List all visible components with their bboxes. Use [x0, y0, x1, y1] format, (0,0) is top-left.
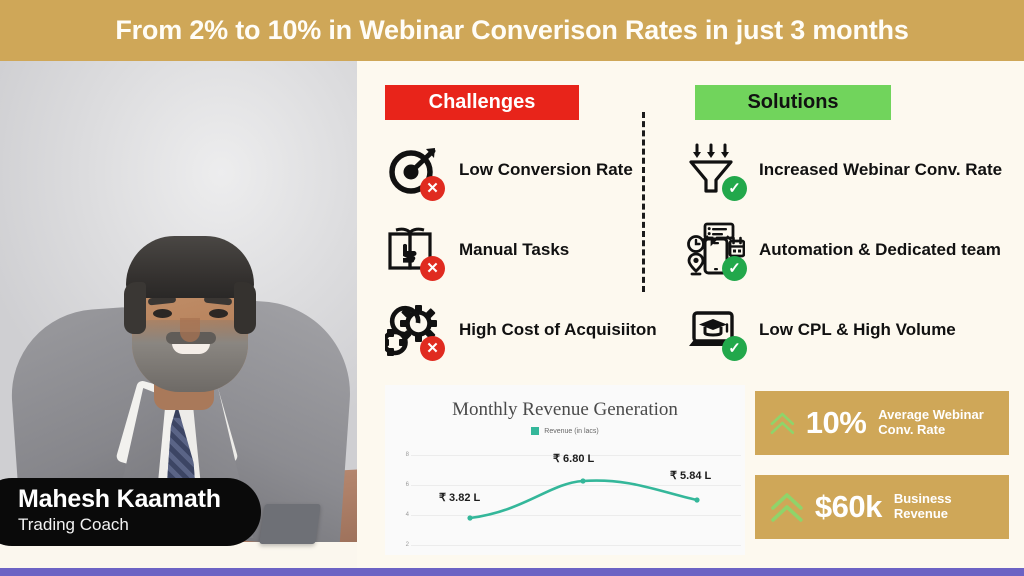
slide-root: From 2% to 10% in Webinar Converison Rat… — [0, 0, 1024, 576]
challenges-heading-chip: Challenges — [385, 85, 579, 120]
solutions-heading-chip: Solutions — [695, 85, 891, 120]
legend-label-revenue: Revenue (in lacs) — [544, 428, 598, 435]
content-panel: Challenges Solutions ✕ Low Conversion Ra… — [357, 61, 1024, 568]
bottom-accent-strip — [0, 568, 1024, 576]
challenge-label: Manual Tasks — [459, 240, 569, 260]
solution-item-low-cpl: ✓ Low CPL & High Volume — [687, 301, 956, 359]
chart-plot-area: 8 6 4 2 ₹ 3.82 L ₹ 6.80 L ₹ 5.84 L — [385, 441, 745, 551]
challenge-label: Low Conversion Rate — [459, 160, 633, 180]
solutions-heading-label: Solutions — [747, 91, 838, 114]
stat-description: Average Webinar Conv. Rate — [878, 408, 1009, 437]
stat-value: $60k — [815, 489, 882, 525]
challenge-badge-x: ✕ — [420, 176, 445, 201]
challenge-label: High Cost of Acquisiiton — [459, 320, 657, 340]
challenge-badge-x: ✕ — [420, 256, 445, 281]
challenges-heading-label: Challenges — [429, 91, 536, 114]
target-icon: ✕ — [385, 141, 443, 199]
challenge-item-high-cost-of-acquisition: ✕ High Cost of Acquisiiton — [385, 301, 657, 359]
challenge-badge-x: ✕ — [420, 336, 445, 361]
double-chevron-up-icon — [769, 404, 796, 442]
legend-swatch-revenue — [531, 427, 539, 435]
column-divider — [642, 112, 645, 292]
solution-badge-check: ✓ — [722, 176, 747, 201]
eye-right — [209, 309, 228, 318]
double-chevron-up-icon — [769, 488, 805, 526]
solution-item-automation: ✓ Automation & Dedicated team — [687, 221, 1001, 279]
hair-side-left — [124, 282, 146, 334]
revenue-chart-card: Monthly Revenue Generation Revenue (in l… — [385, 385, 745, 555]
chart-title: Monthly Revenue Generation — [385, 399, 745, 421]
gears-icon: ✕ — [385, 301, 443, 359]
data-label: ₹ 3.82 L — [439, 491, 480, 504]
funnel-icon: ✓ — [687, 141, 745, 199]
stat-description: Business Revenue — [894, 492, 1009, 521]
stat-card-business-revenue: $60k Business Revenue — [755, 475, 1009, 539]
solution-label: Low CPL & High Volume — [759, 320, 956, 340]
solution-item-increased-conversion: ✓ Increased Webinar Conv. Rate — [687, 141, 1002, 199]
nose — [180, 318, 200, 342]
challenge-item-low-conversion-rate: ✕ Low Conversion Rate — [385, 141, 633, 199]
speaker-role: Trading Coach — [18, 514, 261, 537]
stat-value: 10% — [806, 405, 867, 441]
laptop-on-desk — [259, 504, 321, 544]
solution-badge-check: ✓ — [722, 256, 747, 281]
laptop-graduation-icon: ✓ — [687, 301, 745, 359]
challenge-item-manual-tasks: ✕ Manual Tasks — [385, 221, 569, 279]
data-label: ₹ 6.80 L — [553, 452, 594, 465]
header-banner: From 2% to 10% in Webinar Converison Rat… — [0, 0, 1024, 61]
stat-card-conversion-rate: 10% Average Webinar Conv. Rate — [755, 391, 1009, 455]
solution-badge-check: ✓ — [722, 336, 747, 361]
hair-side-right — [234, 282, 256, 334]
solution-label: Increased Webinar Conv. Rate — [759, 160, 1002, 180]
eye-left — [153, 309, 172, 318]
chart-legend: Revenue (in lacs) — [385, 427, 745, 435]
automation-phone-icon: ✓ — [687, 221, 745, 279]
book-hand-icon: ✕ — [385, 221, 443, 279]
page-title: From 2% to 10% in Webinar Converison Rat… — [115, 15, 908, 46]
speaker-name: Mahesh Kaamath — [18, 487, 261, 513]
solution-label: Automation & Dedicated team — [759, 240, 1001, 260]
data-label: ₹ 5.84 L — [670, 469, 711, 482]
speaker-nameplate: Mahesh Kaamath Trading Coach — [0, 478, 261, 546]
